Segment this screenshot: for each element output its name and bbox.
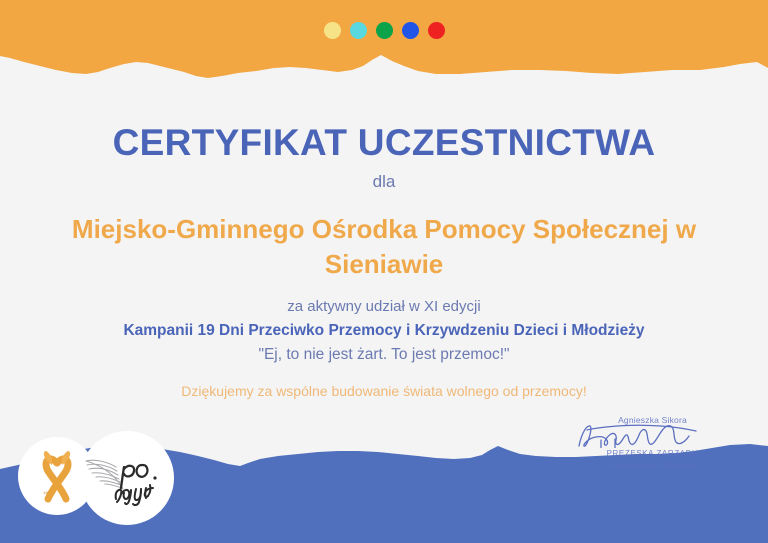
signatory-organization: Fundacja po DRUGIE	[565, 460, 740, 470]
page-title: CERTYFIKAT UCZESTNICTWA	[0, 122, 768, 164]
po-drugie-wing-icon	[80, 431, 174, 525]
certificate-canvas: CERTYFIKAT UCZESTNICTWA dla Miejsko-Gmin…	[0, 0, 768, 543]
signature-block: Agnieszka Sikora PREZESKA ZARZĄDU Fundac…	[565, 415, 740, 470]
handwritten-signature-icon	[565, 422, 740, 448]
svg-text:19: 19	[43, 490, 48, 495]
thank-you-message: Dziękujemy za wspólne budowanie świata w…	[0, 383, 768, 399]
recipient-name: Miejsko-Gminnego Ośrodka Pomocy Społeczn…	[0, 212, 768, 281]
for-label: dla	[0, 172, 768, 192]
po-drugie-logo-circle	[80, 431, 174, 525]
signatory-role: PREZESKA ZARZĄDU	[565, 449, 740, 458]
campaign-name: Kampanii 19 Dni Przeciwko Przemocy i Krz…	[0, 322, 768, 340]
campaign-slogan: "Ej, to nie jest żart. To jest przemoc!"	[0, 346, 768, 364]
signatory-name: Agnieszka Sikora	[565, 415, 740, 425]
participation-reason: za aktywny udział w XI edycji	[0, 298, 768, 315]
